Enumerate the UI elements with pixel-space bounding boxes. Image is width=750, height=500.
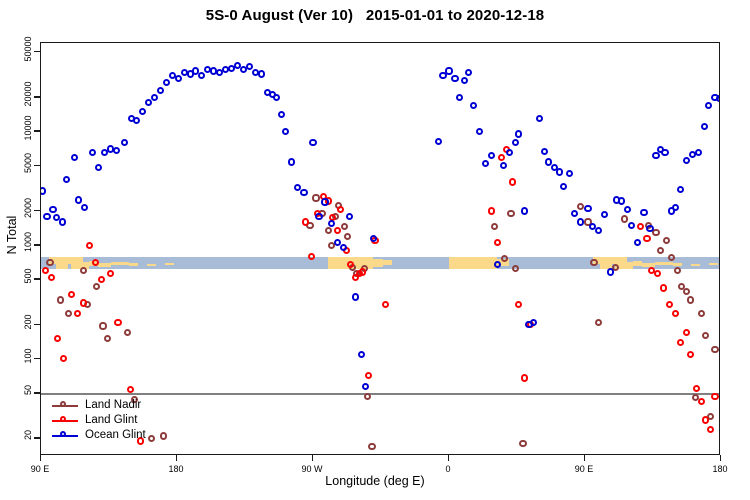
data-point-ocean-glint	[716, 95, 720, 102]
data-point-land-nadir	[104, 335, 111, 342]
data-point-land-nadir	[364, 393, 371, 400]
reference-line	[41, 393, 719, 395]
data-point-ocean-glint	[273, 94, 280, 101]
data-point-ocean-glint	[601, 211, 608, 218]
data-point-ocean-glint	[476, 128, 483, 135]
data-point-land-glint	[54, 335, 61, 342]
data-point-ocean-glint	[634, 239, 641, 246]
data-point-land-glint	[666, 301, 673, 308]
data-point-land-glint	[86, 242, 93, 249]
data-point-ocean-glint	[672, 204, 679, 211]
data-point-land-nadir	[711, 346, 718, 353]
legend-item-label: Land Nadir	[85, 398, 141, 413]
data-point-ocean-glint	[470, 102, 477, 109]
data-point-land-glint	[127, 386, 134, 393]
data-point-ocean-glint	[451, 75, 458, 82]
data-point-ocean-glint	[541, 148, 548, 155]
map-landmass	[98, 263, 110, 268]
data-point-land-nadir	[519, 440, 526, 447]
data-point-ocean-glint	[515, 130, 522, 137]
data-point-ocean-glint	[258, 70, 265, 77]
legend-marker-icon	[52, 420, 78, 422]
data-point-land-glint	[654, 270, 661, 277]
data-point-ocean-glint	[506, 149, 513, 156]
data-point-ocean-glint	[618, 197, 625, 204]
data-point-ocean-glint	[71, 154, 78, 161]
x-axis-label: Longitude (deg E)	[0, 474, 750, 488]
data-point-ocean-glint	[75, 196, 82, 203]
data-point-ocean-glint	[646, 225, 653, 232]
map-landmass	[691, 264, 700, 266]
data-point-ocean-glint	[328, 220, 335, 227]
data-point-land-nadir	[341, 223, 348, 230]
data-point-land-nadir	[702, 332, 709, 339]
data-point-land-glint	[637, 223, 644, 230]
data-point-ocean-glint	[309, 139, 316, 146]
y-tick-label: 500	[23, 254, 33, 298]
data-point-land-glint	[698, 398, 705, 405]
data-point-land-glint	[683, 329, 690, 336]
data-point-ocean-glint	[163, 79, 170, 86]
data-point-land-glint	[702, 416, 709, 423]
data-point-ocean-glint	[358, 351, 365, 358]
data-point-ocean-glint	[640, 209, 647, 216]
data-point-land-glint	[337, 206, 344, 213]
data-point-land-glint	[707, 426, 714, 433]
data-point-ocean-glint	[198, 72, 205, 79]
data-point-ocean-glint	[157, 87, 164, 94]
data-point-land-nadir	[325, 227, 332, 234]
data-point-ocean-glint	[566, 170, 573, 177]
y-tick-label: 50000	[23, 27, 33, 71]
data-point-ocean-glint	[512, 139, 519, 146]
y-axis-label: N Total	[5, 185, 19, 285]
data-point-ocean-glint	[133, 117, 140, 124]
data-point-land-glint	[68, 291, 75, 298]
data-point-land-glint	[42, 267, 49, 274]
data-point-land-glint	[334, 227, 341, 234]
data-point-land-glint	[660, 284, 667, 291]
data-point-land-glint	[308, 253, 315, 260]
data-point-ocean-glint	[139, 108, 146, 115]
chart-legend: Land NadirLand GlintOcean Glint	[52, 398, 202, 443]
data-point-ocean-glint	[362, 383, 369, 390]
chart-title: 5S-0 August (Ver 10) 2015-01-01 to 2020-…	[0, 7, 750, 24]
data-point-ocean-glint	[607, 268, 614, 275]
data-point-ocean-glint	[624, 206, 631, 213]
chart-figure: 5S-0 August (Ver 10) 2015-01-01 to 2020-…	[0, 0, 750, 500]
legend-marker-icon	[52, 435, 78, 437]
data-point-ocean-glint	[321, 198, 328, 205]
data-point-land-nadir	[80, 267, 87, 274]
data-point-land-glint	[509, 178, 516, 185]
data-point-ocean-glint	[63, 176, 70, 183]
map-landmass	[449, 257, 497, 268]
data-point-ocean-glint	[315, 213, 322, 220]
x-tick-mark	[720, 455, 721, 461]
data-point-ocean-glint	[465, 69, 472, 76]
data-point-ocean-glint	[151, 94, 158, 101]
data-point-ocean-glint	[652, 152, 659, 159]
map-landmass	[633, 261, 642, 266]
map-landmass	[147, 264, 156, 266]
map-landmass	[709, 263, 718, 265]
data-point-ocean-glint	[352, 293, 359, 300]
data-point-land-nadir	[657, 247, 664, 254]
data-point-land-nadir	[93, 283, 100, 290]
data-point-ocean-glint	[40, 187, 46, 194]
data-point-ocean-glint	[584, 205, 591, 212]
data-point-ocean-glint	[683, 157, 690, 164]
y-tick-label: 5000	[23, 141, 33, 185]
x-tick-mark	[448, 455, 449, 461]
y-tick-label: 20	[23, 413, 33, 457]
data-point-land-nadir	[344, 233, 351, 240]
x-tick-mark	[40, 455, 41, 461]
data-point-land-glint	[693, 385, 700, 392]
data-point-ocean-glint	[595, 227, 602, 234]
data-point-land-nadir	[698, 310, 705, 317]
data-point-land-nadir	[491, 223, 498, 230]
x-tick-label: 180	[168, 464, 183, 474]
data-point-ocean-glint	[288, 158, 295, 165]
data-point-land-glint	[498, 154, 505, 161]
data-point-ocean-glint	[494, 261, 501, 268]
data-point-land-glint	[107, 270, 114, 277]
data-point-ocean-glint	[628, 222, 635, 229]
legend-item-land-glint: Land Glint	[52, 413, 202, 428]
data-point-land-nadir	[368, 443, 375, 450]
data-point-land-nadir	[621, 215, 628, 222]
data-point-ocean-glint	[701, 123, 708, 130]
x-tick-mark	[312, 455, 313, 461]
x-tick-label: 90 E	[31, 464, 50, 474]
data-point-ocean-glint	[536, 115, 543, 122]
data-point-land-nadir	[46, 259, 53, 266]
data-point-land-nadir	[57, 296, 64, 303]
map-landmass	[56, 261, 68, 269]
legend-item-label: Ocean Glint	[85, 428, 146, 443]
x-tick-mark	[584, 455, 585, 461]
data-point-land-nadir	[99, 322, 106, 329]
data-point-land-glint	[521, 374, 528, 381]
data-point-land-glint	[302, 218, 309, 225]
data-point-land-glint	[711, 393, 718, 400]
map-landmass	[383, 260, 392, 265]
data-point-land-nadir	[683, 288, 690, 295]
map-landmass	[165, 263, 174, 265]
data-point-ocean-glint	[43, 213, 50, 220]
data-point-ocean-glint	[661, 149, 668, 156]
data-point-ocean-glint	[121, 139, 128, 146]
x-tick-mark	[176, 455, 177, 461]
data-point-land-glint	[359, 268, 366, 275]
data-point-ocean-glint	[175, 75, 182, 82]
data-point-ocean-glint	[456, 94, 463, 101]
legend-marker-icon	[52, 405, 78, 407]
data-point-ocean-glint	[530, 319, 537, 326]
data-point-land-nadir	[687, 296, 694, 303]
data-point-land-glint	[74, 310, 81, 317]
data-point-land-glint	[672, 310, 679, 317]
y-tick-label: 50	[23, 368, 33, 412]
data-point-ocean-glint	[145, 99, 152, 106]
data-point-land-glint	[494, 239, 501, 246]
x-tick-label: 90 W	[301, 464, 322, 474]
data-point-land-glint	[488, 207, 495, 214]
data-point-land-glint	[677, 339, 684, 346]
data-point-ocean-glint	[278, 111, 285, 118]
data-point-ocean-glint	[95, 164, 102, 171]
x-tick-label: 180	[712, 464, 727, 474]
map-landmass	[129, 263, 138, 266]
legend-item-label: Land Glint	[85, 413, 137, 428]
data-point-ocean-glint	[113, 147, 120, 154]
data-point-land-nadir	[65, 310, 72, 317]
data-point-ocean-glint	[461, 77, 468, 84]
data-point-ocean-glint	[445, 67, 452, 74]
data-point-ocean-glint	[488, 152, 495, 159]
x-tick-label: 90 E	[575, 464, 594, 474]
map-landmass	[673, 263, 682, 266]
data-point-ocean-glint	[521, 207, 528, 214]
data-point-land-glint	[365, 372, 372, 379]
plot-area	[40, 42, 720, 455]
data-point-land-nadir	[512, 265, 519, 272]
data-point-land-nadir	[577, 203, 584, 210]
data-point-ocean-glint	[560, 183, 567, 190]
data-point-land-glint	[60, 355, 67, 362]
data-point-land-glint	[48, 274, 55, 281]
data-point-ocean-glint	[346, 213, 353, 220]
map-landmass	[111, 262, 129, 265]
map-landmass	[655, 262, 673, 265]
data-point-land-nadir	[674, 267, 681, 274]
data-point-land-nadir	[663, 237, 670, 244]
data-point-ocean-glint	[300, 189, 307, 196]
legend-item-land-nadir: Land Nadir	[52, 398, 202, 413]
data-point-ocean-glint	[59, 218, 66, 225]
data-point-ocean-glint	[500, 162, 507, 169]
data-point-ocean-glint	[571, 210, 578, 217]
data-point-land-glint	[643, 235, 650, 242]
x-tick-label: 0	[445, 464, 450, 474]
data-point-land-nadir	[312, 194, 319, 201]
data-point-land-glint	[80, 299, 87, 306]
data-point-land-nadir	[595, 319, 602, 326]
data-point-ocean-glint	[705, 102, 712, 109]
data-point-land-nadir	[507, 210, 514, 217]
data-point-ocean-glint	[435, 138, 442, 145]
data-point-land-glint	[687, 351, 694, 358]
data-point-ocean-glint	[677, 186, 684, 193]
data-point-ocean-glint	[695, 149, 702, 156]
legend-item-ocean-glint: Ocean Glint	[52, 428, 202, 443]
data-point-land-nadir	[668, 254, 675, 261]
data-point-land-nadir	[590, 259, 597, 266]
data-point-ocean-glint	[89, 149, 96, 156]
data-point-land-glint	[515, 301, 522, 308]
data-point-ocean-glint	[282, 128, 289, 135]
data-point-ocean-glint	[81, 204, 88, 211]
data-point-land-nadir	[124, 329, 131, 336]
data-point-ocean-glint	[556, 168, 563, 175]
data-point-ocean-glint	[577, 218, 584, 225]
data-point-ocean-glint	[370, 235, 377, 242]
data-point-land-glint	[114, 319, 121, 326]
data-point-ocean-glint	[482, 160, 489, 167]
data-point-ocean-glint	[49, 206, 56, 213]
data-point-land-glint	[382, 301, 389, 308]
data-point-land-glint	[98, 276, 105, 283]
